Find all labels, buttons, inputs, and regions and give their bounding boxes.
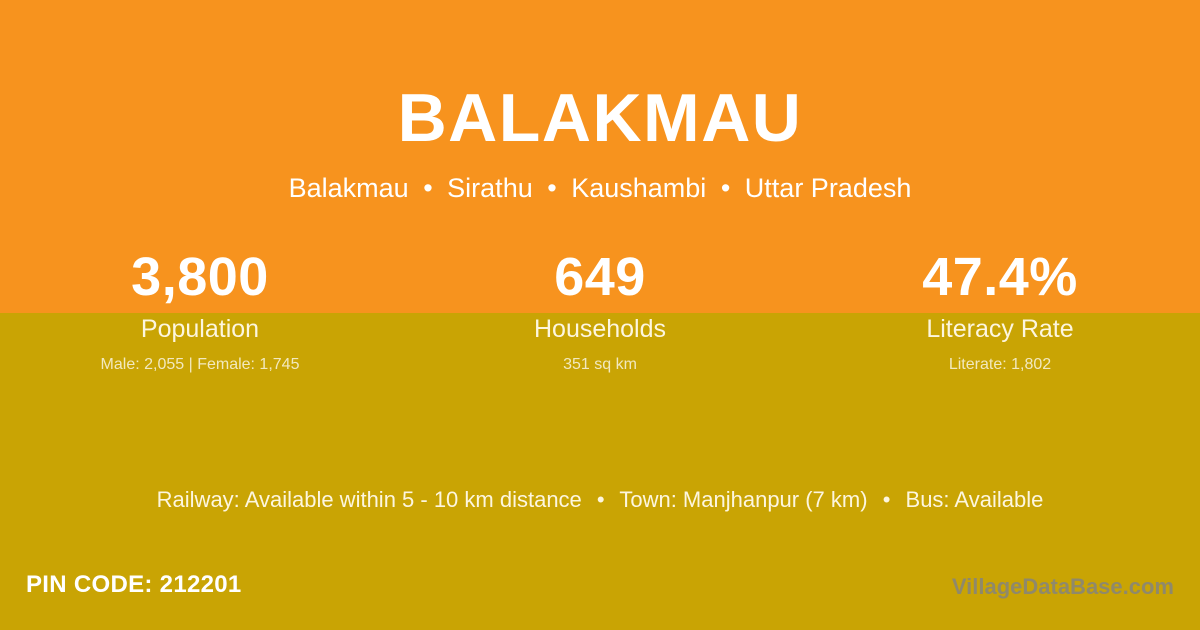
infrastructure-town: Town: Manjhanpur (7 km) [619,487,867,512]
infrastructure-separator-2: • [874,487,900,512]
stat-population: 3,800 Population Male: 2,055 | Female: 1… [0,243,400,375]
pin-code: PIN CODE: 212201 [26,570,242,600]
site-brand: VillageDataBase.com [952,573,1174,601]
stat-value: 3,800 [0,243,400,311]
stat-label: Literacy Rate [800,314,1200,344]
infrastructure-bus: Bus: Available [906,487,1044,512]
breadcrumb-block: Sirathu [447,173,533,203]
stat-subtext: Male: 2,055 | Female: 1,745 [0,355,400,375]
breadcrumb-separator-1: • [416,173,439,203]
stat-value: 649 [400,243,800,311]
breadcrumb-village: Balakmau [289,173,409,203]
stat-subtext: Literate: 1,802 [800,355,1200,375]
breadcrumb-district: Kaushambi [571,173,706,203]
infrastructure-row: Railway: Available within 5 - 10 km dist… [0,485,1200,515]
infrastructure-text: Railway: Available within 5 - 10 km dist… [157,485,1044,515]
village-info-card: BALAKMAU Balakmau • Sirathu • Kaushambi … [0,0,1200,630]
breadcrumb-state: Uttar Pradesh [745,173,912,203]
stat-households: 649 Households 351 sq km [400,243,800,375]
breadcrumb-separator-2: • [540,173,563,203]
card-header: BALAKMAU Balakmau • Sirathu • Kaushambi … [0,0,1200,204]
infrastructure-separator-1: • [588,487,614,512]
page-title: BALAKMAU [0,0,1200,152]
infrastructure-railway: Railway: Available within 5 - 10 km dist… [157,487,582,512]
stat-value: 47.4% [800,243,1200,311]
stat-subtext: 351 sq km [400,355,800,375]
stat-label: Population [0,314,400,344]
stat-label: Households [400,314,800,344]
breadcrumb-separator-3: • [714,173,737,203]
stats-row: 3,800 Population Male: 2,055 | Female: 1… [0,243,1200,375]
card-footer: PIN CODE: 212201 VillageDataBase.com [0,558,1200,630]
stat-literacy-rate: 47.4% Literacy Rate Literate: 1,802 [800,243,1200,375]
breadcrumb: Balakmau • Sirathu • Kaushambi • Uttar P… [0,152,1200,204]
